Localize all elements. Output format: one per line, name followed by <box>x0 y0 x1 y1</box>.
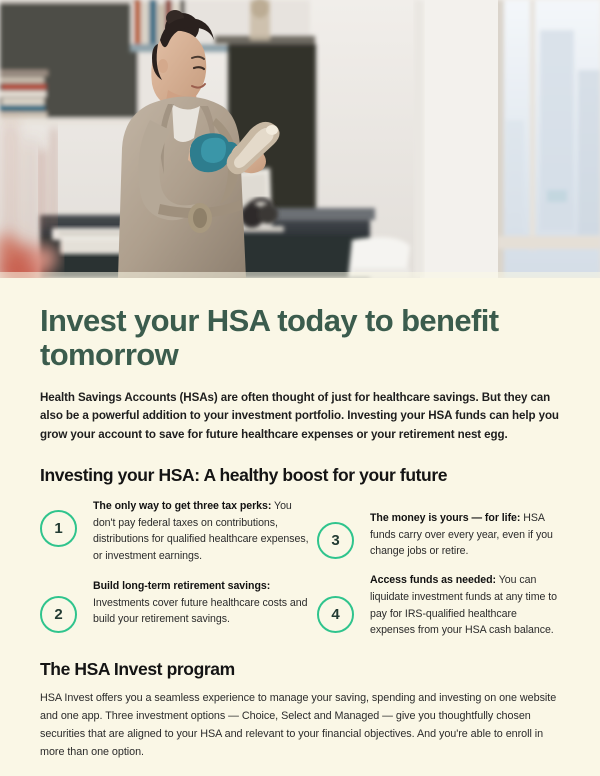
perk-title: The money is yours — for life: <box>370 512 520 524</box>
section-heading-program: The HSA Invest program <box>40 659 560 680</box>
perk-number-badge: 1 <box>40 510 77 547</box>
perk-number-badge: 2 <box>40 596 77 633</box>
perk-body: The money is yours — for life: HSA funds… <box>370 510 560 560</box>
perk-body: The only way to get three tax perks: You… <box>93 498 317 565</box>
hero-illustration <box>0 0 600 278</box>
page-title: Invest your HSA today to benefit tomorro… <box>40 304 560 372</box>
hero-image <box>0 0 600 278</box>
list-item: 2 Build long-term retirement savings: In… <box>40 578 317 633</box>
list-item: 4 Access funds as needed: You can liquid… <box>317 572 560 639</box>
content-area: Invest your HSA today to benefit tomorro… <box>0 278 600 762</box>
perk-number-badge: 4 <box>317 596 354 633</box>
perk-body: Build long-term retirement savings: Inve… <box>93 578 317 628</box>
perk-title: The only way to get three tax perks: <box>93 500 271 512</box>
perk-body: Access funds as needed: You can liquidat… <box>370 572 560 639</box>
list-item: 3 The money is yours — for life: HSA fun… <box>317 510 560 560</box>
perks-column-left: 1 The only way to get three tax perks: Y… <box>40 498 317 651</box>
marketing-page: Invest your HSA today to benefit tomorro… <box>0 0 600 776</box>
perk-title: Access funds as needed: <box>370 574 496 586</box>
intro-paragraph: Health Savings Accounts (HSAs) are often… <box>40 389 560 445</box>
perks-column-right: 3 The money is yours — for life: HSA fun… <box>317 498 560 651</box>
program-paragraph: HSA Invest offers you a seamless experie… <box>40 690 560 762</box>
list-item: 1 The only way to get three tax perks: Y… <box>40 498 317 565</box>
perk-title: Build long-term retirement savings: <box>93 580 270 592</box>
perk-number-badge: 3 <box>317 522 354 559</box>
perks-list: 1 The only way to get three tax perks: Y… <box>40 498 560 651</box>
perk-text: Investments cover future healthcare cost… <box>93 597 307 626</box>
section-heading-investing: Investing your HSA: A healthy boost for … <box>40 465 560 486</box>
